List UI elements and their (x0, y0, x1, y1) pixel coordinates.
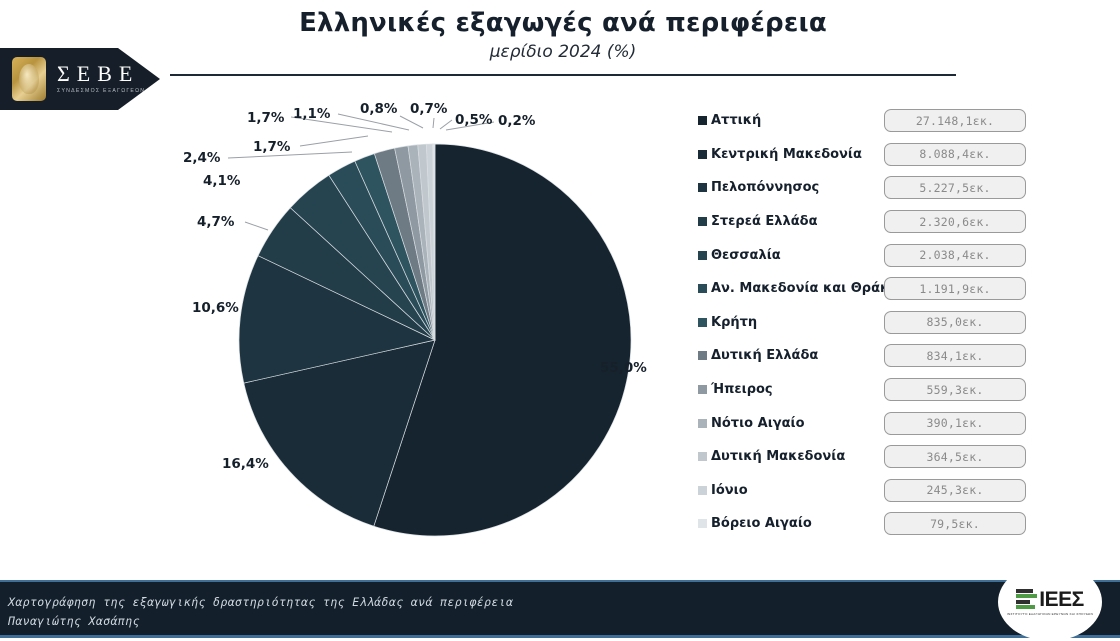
legend-row[interactable]: Νότιο Αιγαίο390,1εκ. (698, 406, 1098, 440)
legend-value-box: 364,5εκ. (884, 445, 1026, 468)
pie-leader-line (245, 222, 268, 230)
legend-value-box: 1.191,9εκ. (884, 277, 1026, 300)
pie-chart-svg: 55,0%16,4%10,6%4,7%4,1%2,4%1,7%1,7%1,1%0… (0, 90, 670, 560)
legend-color-swatch (698, 284, 707, 293)
legend-color-swatch (698, 183, 707, 192)
legend-row[interactable]: Ιόνιο245,3εκ. (698, 474, 1098, 508)
iees-logo-name: ΙΕΕΣ (1039, 589, 1083, 610)
footer-line-1: Χαρτογράφηση της εξαγωγικής δραστηριότητ… (8, 593, 513, 612)
legend-color-swatch (698, 150, 707, 159)
legend-row[interactable]: Βόρειο Αιγαίο79,5εκ. (698, 507, 1098, 541)
legend-value-text: 8.088,4εκ. (919, 147, 990, 161)
legend-value-text: 2.038,4εκ. (919, 248, 990, 262)
pie-percent-label: 0,5% (455, 112, 493, 128)
pie-leader-line (440, 120, 452, 129)
legend-value-text: 364,5εκ. (927, 450, 984, 464)
legend-item-label: Ήπειρος (711, 382, 773, 397)
pie-leader-line (400, 116, 423, 128)
iees-logo: ΙΕΕΣ ΙΝΣΤΙΤΟΥΤΟ ΕΞΑΓΩΓΙΚΩΝ ΕΡΕΥΝΩΝ ΚΑΙ Σ… (998, 563, 1102, 641)
pie-percent-label: 4,1% (203, 173, 241, 189)
legend-item-label: Δυτική Μακεδονία (711, 449, 845, 464)
legend-color-swatch (698, 519, 707, 528)
legend-value-box: 835,0εκ. (884, 311, 1026, 334)
legend-item-label: Νότιο Αιγαίο (711, 416, 805, 431)
legend-color-swatch (698, 116, 707, 125)
pie-leader-line (300, 136, 368, 146)
legend-row[interactable]: Αττική27.148,1εκ. (698, 104, 1098, 138)
legend-row[interactable]: Δυτική Μακεδονία364,5εκ. (698, 440, 1098, 474)
pie-percent-label: 10,6% (192, 300, 239, 316)
legend-row[interactable]: Θεσσαλία2.038,4εκ. (698, 238, 1098, 272)
legend-row[interactable]: Δυτική Ελλάδα834,1εκ. (698, 339, 1098, 373)
legend-value-box: 79,5εκ. (884, 512, 1026, 535)
iees-logo-subtitle: ΙΝΣΤΙΤΟΥΤΟ ΕΞΑΓΩΓΙΚΩΝ ΕΡΕΥΝΩΝ ΚΑΙ ΣΠΟΥΔΩ… (1007, 612, 1093, 616)
page-subtitle: μερίδιο 2024 (%) (170, 42, 956, 62)
legend-color-swatch (698, 351, 707, 360)
pie-percent-label: 1,7% (253, 139, 291, 155)
legend-value-box: 2.320,6εκ. (884, 210, 1026, 233)
legend-item-label: Αν. Μακεδονία και Θράκη (711, 281, 899, 296)
legend-value-box: 559,3εκ. (884, 378, 1026, 401)
legend-value-text: 245,3εκ. (927, 483, 984, 497)
pie-percent-label: 0,7% (410, 101, 448, 117)
legend-color-swatch (698, 486, 707, 495)
pie-percent-label: 1,1% (293, 106, 331, 122)
legend-value-box: 2.038,4εκ. (884, 244, 1026, 267)
legend-value-text: 79,5εκ. (930, 517, 980, 531)
legend-item-label: Θεσσαλία (711, 248, 781, 263)
pie-percent-label: 1,7% (247, 110, 285, 126)
page-title: Ελληνικές εξαγωγές ανά περιφέρεια (170, 8, 956, 38)
legend-row[interactable]: Ήπειρος559,3εκ. (698, 373, 1098, 407)
legend-value-box: 8.088,4εκ. (884, 143, 1026, 166)
pie-percent-label: 16,4% (222, 456, 269, 472)
pie-percent-label: 0,2% (498, 113, 536, 129)
legend-item-label: Δυτική Ελλάδα (711, 348, 818, 363)
legend-row[interactable]: Κεντρική Μακεδονία8.088,4εκ. (698, 138, 1098, 172)
legend-color-swatch (698, 452, 707, 461)
legend-value-box: 834,1εκ. (884, 344, 1026, 367)
legend-value-box: 390,1εκ. (884, 412, 1026, 435)
legend-value-text: 834,1εκ. (927, 349, 984, 363)
legend-row[interactable]: Πελοπόννησος5.227,5εκ. (698, 171, 1098, 205)
footer-line-2: Παναγιώτης Χασάπης (8, 612, 513, 631)
iees-bars-icon (1016, 589, 1037, 610)
pie-slice-group (239, 144, 631, 536)
pie-percent-label: 2,4% (183, 150, 221, 166)
legend-value-box: 245,3εκ. (884, 479, 1026, 502)
pie-percent-label: 4,7% (197, 214, 235, 230)
header-divider (170, 74, 956, 76)
legend-value-text: 835,0εκ. (927, 315, 984, 329)
legend-color-swatch (698, 385, 707, 394)
pie-percent-label: 0,8% (360, 101, 398, 117)
legend-value-text: 390,1εκ. (927, 416, 984, 430)
footer-bar: Χαρτογράφηση της εξαγωγικής δραστηριότητ… (0, 580, 1120, 638)
legend-value-text: 5.227,5εκ. (919, 181, 990, 195)
legend-color-swatch (698, 217, 707, 226)
legend-row[interactable]: Κρήτη835,0εκ. (698, 306, 1098, 340)
legend-value-text: 559,3εκ. (927, 383, 984, 397)
legend-item-label: Κρήτη (711, 315, 757, 330)
legend-item-label: Ιόνιο (711, 483, 748, 498)
legend-item-label: Βόρειο Αιγαίο (711, 516, 812, 531)
legend-value-text: 27.148,1εκ. (916, 114, 994, 128)
pie-leader-line (433, 118, 434, 128)
legend-value-box: 5.227,5εκ. (884, 176, 1026, 199)
legend-item-label: Αττική (711, 113, 761, 128)
legend-row[interactable]: Αν. Μακεδονία και Θράκη1.191,9εκ. (698, 272, 1098, 306)
chart-header: Ελληνικές εξαγωγές ανά περιφέρεια μερίδι… (170, 8, 956, 62)
legend-row[interactable]: Στερεά Ελλάδα2.320,6εκ. (698, 205, 1098, 239)
legend-item-label: Κεντρική Μακεδονία (711, 147, 862, 162)
legend-value-box: 27.148,1εκ. (884, 109, 1026, 132)
legend-color-swatch (698, 251, 707, 260)
sebe-logo-name: ΣΕΒΕ (57, 63, 145, 85)
legend-item-label: Πελοπόννησος (711, 180, 819, 195)
legend-color-swatch (698, 318, 707, 327)
legend-color-swatch (698, 419, 707, 428)
legend: Αττική27.148,1εκ.Κεντρική Μακεδονία8.088… (698, 104, 1098, 541)
footer-text: Χαρτογράφηση της εξαγωγικής δραστηριότητ… (8, 593, 513, 631)
pie-percent-label: 55,0% (600, 360, 647, 376)
pie-chart: 55,0%16,4%10,6%4,7%4,1%2,4%1,7%1,7%1,1%0… (0, 90, 670, 560)
legend-value-text: 2.320,6εκ. (919, 215, 990, 229)
legend-item-label: Στερεά Ελλάδα (711, 214, 818, 229)
legend-value-text: 1.191,9εκ. (919, 282, 990, 296)
